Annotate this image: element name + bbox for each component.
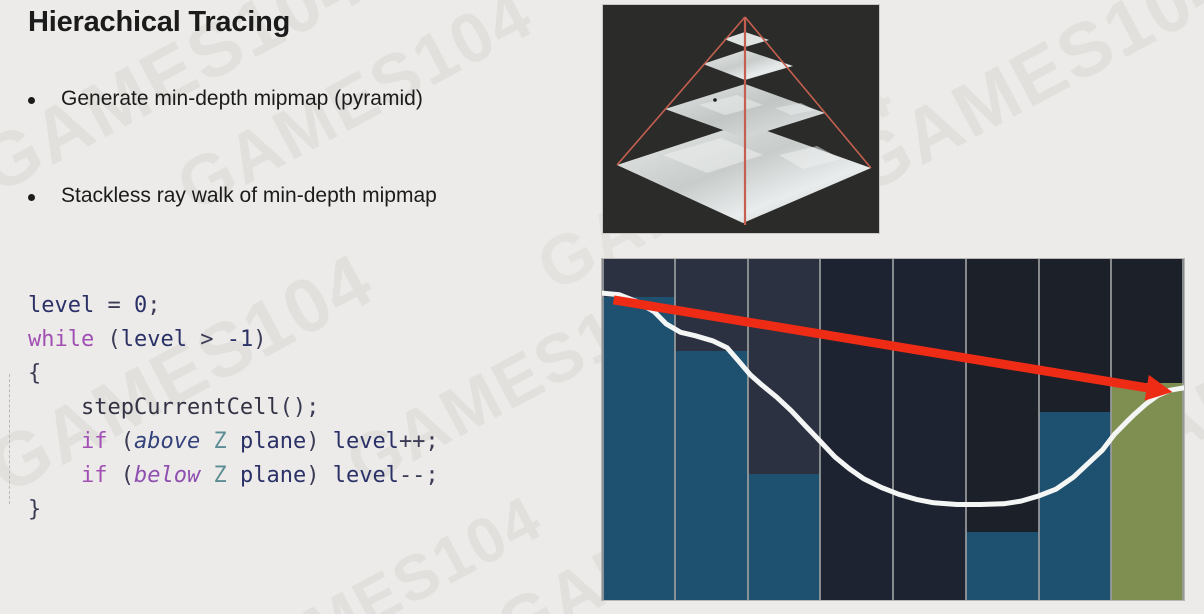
code-token: ( xyxy=(107,463,134,488)
code-token: --; xyxy=(399,463,439,488)
code-token: if xyxy=(81,429,108,454)
code-token: ++; xyxy=(399,429,439,454)
code-token xyxy=(227,429,240,454)
mindepth-cells-figure xyxy=(601,258,1185,601)
code-token: if xyxy=(81,463,108,488)
code-token: below xyxy=(134,463,200,488)
bullet-item: Generate min-depth mipmap (pyramid) xyxy=(28,85,423,113)
code-token xyxy=(28,463,81,488)
code-token: level xyxy=(28,293,94,318)
surface-polyline xyxy=(602,293,1184,504)
bullet-dot-icon xyxy=(28,194,35,201)
surface-speck-icon xyxy=(713,98,717,102)
code-token: = xyxy=(107,293,120,318)
code-token: } xyxy=(28,497,41,522)
code-line: { xyxy=(28,357,439,391)
code-line: stepCurrentCell(); xyxy=(28,391,439,425)
code-token: 0 xyxy=(134,293,147,318)
code-line: level = 0; xyxy=(28,289,439,323)
code-token: stepCurrentCell xyxy=(81,395,280,420)
code-token: ; xyxy=(147,293,160,318)
code-token xyxy=(200,429,213,454)
bullet-text: Generate min-depth mipmap (pyramid) xyxy=(61,85,423,113)
code-token: Z xyxy=(213,429,226,454)
mipmap-pyramid-figure xyxy=(602,4,880,234)
slide-canvas: GAMES104 GAMES104 GAMES104 GAMES104 GAME… xyxy=(0,0,1204,614)
code-token: level xyxy=(333,429,399,454)
code-token xyxy=(28,429,81,454)
code-token: ( xyxy=(94,327,121,352)
code-line: while (level > -1) xyxy=(28,323,439,357)
code-token: level xyxy=(121,327,187,352)
code-token xyxy=(213,327,226,352)
code-block: level = 0;while (level > -1){ stepCurren… xyxy=(28,289,439,527)
code-token xyxy=(227,463,240,488)
page-title: Hierachical Tracing xyxy=(28,6,290,39)
code-token: while xyxy=(28,327,94,352)
code-line: } xyxy=(28,493,439,527)
ray-and-surface-overlay xyxy=(602,259,1184,600)
code-token: { xyxy=(28,361,41,386)
bullet-item: Stackless ray walk of min-depth mipmap xyxy=(28,182,437,210)
code-token xyxy=(28,395,81,420)
code-token xyxy=(187,327,200,352)
code-token: -1 xyxy=(227,327,254,352)
code-token: (); xyxy=(280,395,320,420)
pyramid-svg xyxy=(603,5,879,233)
ray-arrow xyxy=(614,300,1173,401)
code-token: ) xyxy=(253,327,266,352)
code-token: level xyxy=(333,463,399,488)
code-token: plane xyxy=(240,429,306,454)
code-token: plane xyxy=(240,463,306,488)
code-indent-guide xyxy=(9,374,10,504)
code-token: ) xyxy=(306,429,333,454)
code-line: if (below Z plane) level--; xyxy=(28,459,439,493)
code-token: ) xyxy=(306,463,333,488)
code-token: Z xyxy=(213,463,226,488)
code-token: ( xyxy=(107,429,134,454)
code-token xyxy=(121,293,134,318)
bullet-text: Stackless ray walk of min-depth mipmap xyxy=(61,182,437,210)
code-token: above xyxy=(134,429,200,454)
bullet-dot-icon xyxy=(28,97,35,104)
code-line: if (above Z plane) level++; xyxy=(28,425,439,459)
code-token xyxy=(94,293,107,318)
code-token: > xyxy=(200,327,213,352)
code-token xyxy=(200,463,213,488)
watermark: GAMES104 xyxy=(834,0,1204,211)
